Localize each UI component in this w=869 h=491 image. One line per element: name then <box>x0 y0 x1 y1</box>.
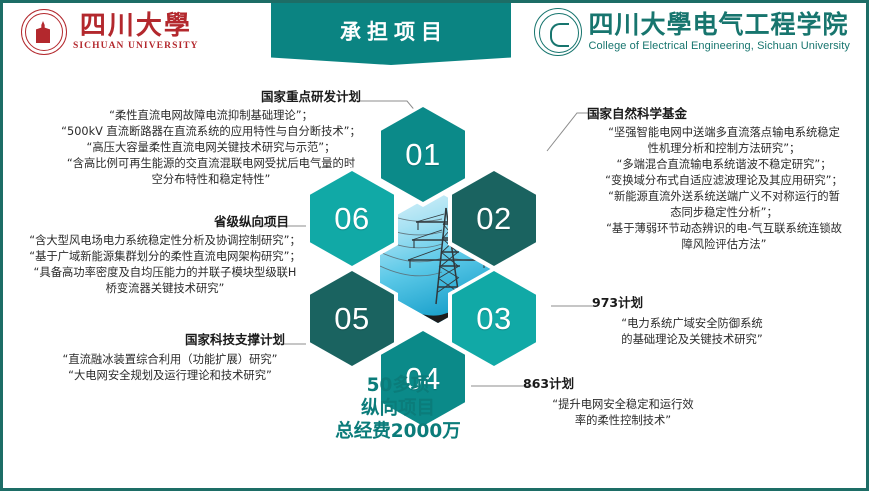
block-title-provincial: 省级纵向项目 <box>21 214 309 230</box>
body-line: “含大型风电场电力系统稳定性分析及协调控制研究”； <box>21 233 309 249</box>
banner-title: 承担项目 <box>334 16 448 46</box>
college-logo: 四川大學电气工程学院 College of Electrical Enginee… <box>534 8 851 56</box>
body-line: 障风险评估方法” <box>587 237 861 253</box>
university-name-en: SICHUAN UNIVERSITY <box>73 41 199 51</box>
body-line: “变换域分布式自适应滤波理论及其应用研究”； <box>587 173 861 189</box>
body-line: 的基础理论及关键技术研究” <box>592 332 792 348</box>
hexagon-03-number: 03 <box>476 301 511 337</box>
college-seal-icon <box>534 8 582 56</box>
block-title-973: 973计划 <box>592 295 792 311</box>
summary-line-3: 总经费2000万 <box>303 420 493 443</box>
block-title-nsfc: 国家自然科学基金 <box>587 106 861 122</box>
block-body-tech-support: “直流融冰装置综合利用（功能扩展）研究” “大电网安全规划及运行理论和技术研究” <box>31 352 309 384</box>
hexagon-cluster: 01 02 03 04 05 06 <box>303 103 573 413</box>
college-name-en: College of Electrical Engineering, Sichu… <box>589 40 851 52</box>
body-line: “多端混合直流输电系统谐波不稳定研究”； <box>587 157 861 173</box>
text-block-tech-support: 国家科技支撑计划 “直流融冰装置综合利用（功能扩展）研究” “大电网安全规划及运… <box>31 332 309 384</box>
body-line: 率的柔性控制技术” <box>523 413 723 429</box>
hexagon-02-number: 02 <box>476 201 511 237</box>
text-block-provincial: 省级纵向项目 “含大型风电场电力系统稳定性分析及协调控制研究”； “基于广域新能… <box>21 214 309 297</box>
hexagon-01-number: 01 <box>405 137 440 173</box>
block-title-tech-support: 国家科技支撑计划 <box>31 332 309 348</box>
body-line: “直流融冰装置综合利用（功能扩展）研究” <box>31 352 309 368</box>
body-line: 桥变流器关键技术研究” <box>21 281 309 297</box>
body-line: “具备高功率密度及自均压能力的并联子模块型级联H <box>21 265 309 281</box>
block-body-nsfc: “坚强智能电网中送端多直流落点输电系统稳定 性机理分析和控制方法研究”； “多端… <box>587 125 861 253</box>
body-line: “大电网安全规划及运行理论和技术研究” <box>31 368 309 384</box>
hexagon-05-number: 05 <box>334 301 369 337</box>
body-line: 态同步稳定性分析”； <box>587 205 861 221</box>
body-line: “基于薄弱环节动态辨识的电-气互联系统连锁故 <box>587 221 861 237</box>
summary-text: 50多项 纵向项目 总经费2000万 <box>303 374 493 443</box>
sichuan-university-seal-icon <box>21 9 67 55</box>
slide-root: 承担项目 四川大學 SICHUAN UNIVERSITY 四川大學电气工程学院 … <box>0 0 869 491</box>
hexagon-06-number: 06 <box>334 201 369 237</box>
block-body-provincial: “含大型风电场电力系统稳定性分析及协调控制研究”； “基于广域新能源集群划分的柔… <box>21 233 309 297</box>
body-line: “新能源直流外送系统送端广义不对称运行的暂 <box>587 189 861 205</box>
block-body-973: “电力系统广域安全防御系统 的基础理论及关键技术研究” <box>592 316 792 348</box>
summary-line-2: 纵向项目 <box>303 397 493 420</box>
text-block-nsfc: 国家自然科学基金 “坚强智能电网中送端多直流落点输电系统稳定 性机理分析和控制方… <box>587 106 861 254</box>
section-banner: 承担项目 <box>271 3 511 65</box>
body-line: 性机理分析和控制方法研究”； <box>587 141 861 157</box>
sichuan-university-logo: 四川大學 SICHUAN UNIVERSITY <box>21 9 199 55</box>
body-line: “电力系统广域安全防御系统 <box>592 316 792 332</box>
university-name-cn: 四川大學 <box>80 13 192 40</box>
college-name-cn: 四川大學电气工程学院 <box>589 12 851 39</box>
body-line: “基于广域新能源集群划分的柔性直流电网架构研究”； <box>21 249 309 265</box>
text-block-973: 973计划 “电力系统广域安全防御系统 的基础理论及关键技术研究” <box>592 295 792 348</box>
summary-line-1: 50多项 <box>303 374 493 397</box>
body-line: “坚强智能电网中送端多直流落点输电系统稳定 <box>587 125 861 141</box>
